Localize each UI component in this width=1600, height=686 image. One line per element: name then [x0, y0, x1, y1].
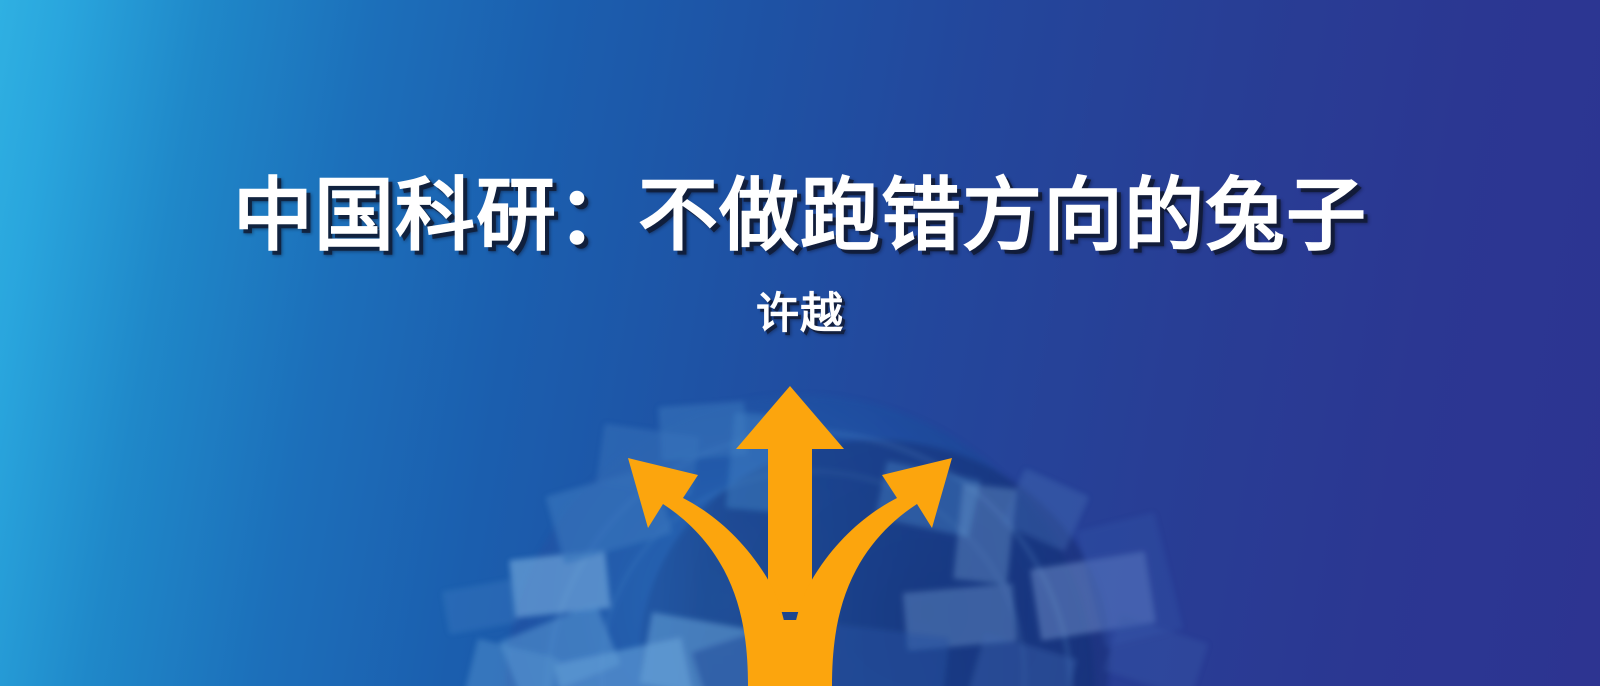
- arrow-stem-path: [748, 620, 832, 686]
- author-subtitle: 许越: [0, 293, 1600, 336]
- page-title: 中国科研：不做跑错方向的兔子: [0, 176, 1600, 256]
- presentation-slide: 中国科研：不做跑错方向的兔子 许越: [0, 0, 1600, 686]
- three-way-fork-arrow-icon: [0, 0, 1600, 686]
